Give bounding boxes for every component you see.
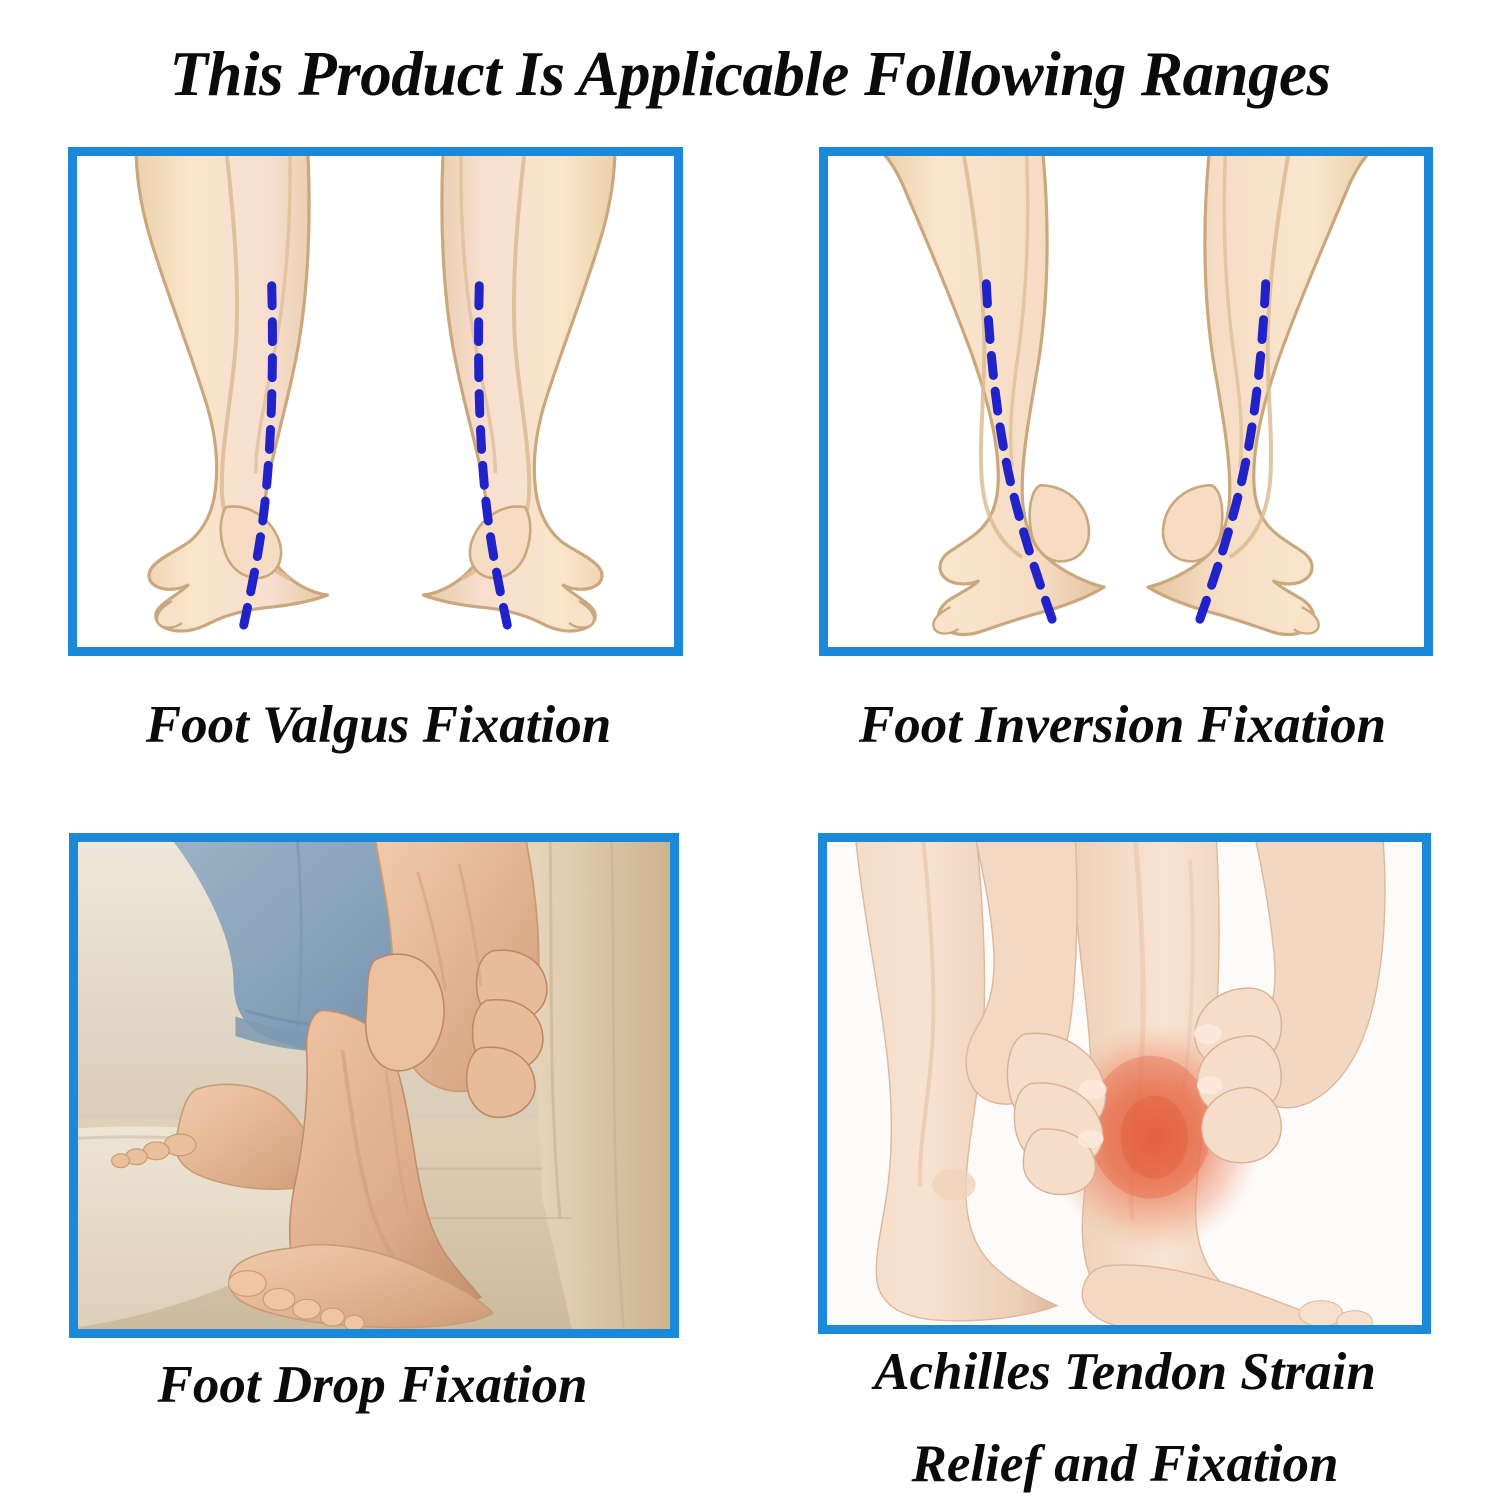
caption-foot-inversion: Foot Inversion Fixation [745, 693, 1500, 757]
foot-inversion-legs-illustration [828, 156, 1424, 647]
caption-achilles-tendon-line2: Relief and Fixation [750, 1432, 1500, 1496]
achilles-tendon-photograph [827, 842, 1422, 1325]
infographic-page: This Product Is Applicable Following Ran… [0, 0, 1500, 1500]
caption-foot-drop: Foot Drop Fixation [0, 1353, 745, 1417]
panel-foot-valgus [68, 147, 683, 656]
panel-foot-inversion [819, 147, 1433, 656]
caption-foot-valgus: Foot Valgus Fixation [0, 693, 757, 757]
foot-drop-photograph [78, 842, 670, 1329]
foot-valgus-legs-illustration [77, 156, 674, 647]
caption-achilles-tendon-line1: Achilles Tendon Strain [750, 1340, 1500, 1404]
panel-achilles-tendon [818, 833, 1431, 1334]
panel-foot-drop [69, 833, 679, 1338]
page-title: This Product Is Applicable Following Ran… [0, 36, 1500, 112]
